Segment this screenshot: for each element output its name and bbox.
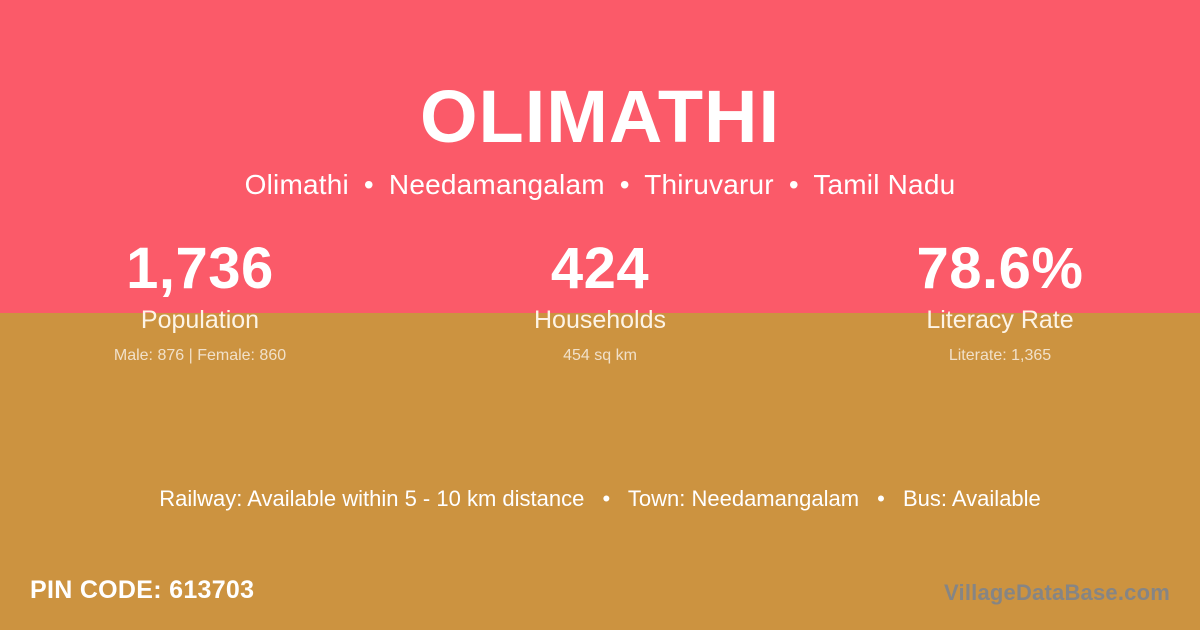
info-separator: •	[865, 486, 897, 511]
page-title: OLIMATHI	[0, 79, 1200, 154]
stat-literacy-rate: 78.6% Literacy Rate Literate: 1,365	[800, 238, 1200, 365]
stat-value: 1,736	[0, 238, 400, 301]
stat-population: 1,736 Population Male: 876 | Female: 860	[0, 238, 400, 365]
breadcrumb-item-state: Tamil Nadu	[813, 169, 955, 200]
breadcrumb-separator: •	[613, 169, 637, 200]
card-header: OLIMATHI Olimathi • Needamangalam • Thir…	[0, 0, 1200, 202]
breadcrumb-item-district: Thiruvarur	[644, 169, 774, 200]
stats-row: 1,736 Population Male: 876 | Female: 860…	[0, 238, 1200, 365]
info-item-bus: Bus: Available	[903, 486, 1041, 511]
info-separator: •	[590, 486, 622, 511]
stat-label: Literacy Rate	[800, 305, 1200, 335]
info-item-railway: Railway: Available within 5 - 10 km dist…	[159, 486, 584, 511]
stat-households: 424 Households 454 sq km	[400, 238, 800, 365]
stat-detail: Literate: 1,365	[800, 346, 1200, 365]
breadcrumb-item-block: Needamangalam	[389, 169, 605, 200]
breadcrumb-item-village: Olimathi	[245, 169, 349, 200]
breadcrumb: Olimathi • Needamangalam • Thiruvarur • …	[0, 168, 1200, 202]
stat-value: 78.6%	[800, 238, 1200, 301]
village-info-card: OLIMATHI Olimathi • Needamangalam • Thir…	[0, 0, 1200, 630]
pin-code-label: PIN CODE: 613703	[30, 576, 254, 605]
stat-value: 424	[400, 238, 800, 301]
stat-label: Population	[0, 305, 400, 335]
breadcrumb-separator: •	[782, 169, 806, 200]
stat-detail: Male: 876 | Female: 860	[0, 346, 400, 365]
card-footer: PIN CODE: 613703 VillageDataBase.com	[0, 560, 1200, 630]
info-item-town: Town: Needamangalam	[628, 486, 859, 511]
site-brand-logo: VillageDataBase.com	[944, 580, 1170, 606]
amenities-row: Railway: Available within 5 - 10 km dist…	[0, 485, 1200, 514]
stat-detail: 454 sq km	[400, 346, 800, 365]
breadcrumb-separator: •	[357, 169, 381, 200]
stat-label: Households	[400, 305, 800, 335]
